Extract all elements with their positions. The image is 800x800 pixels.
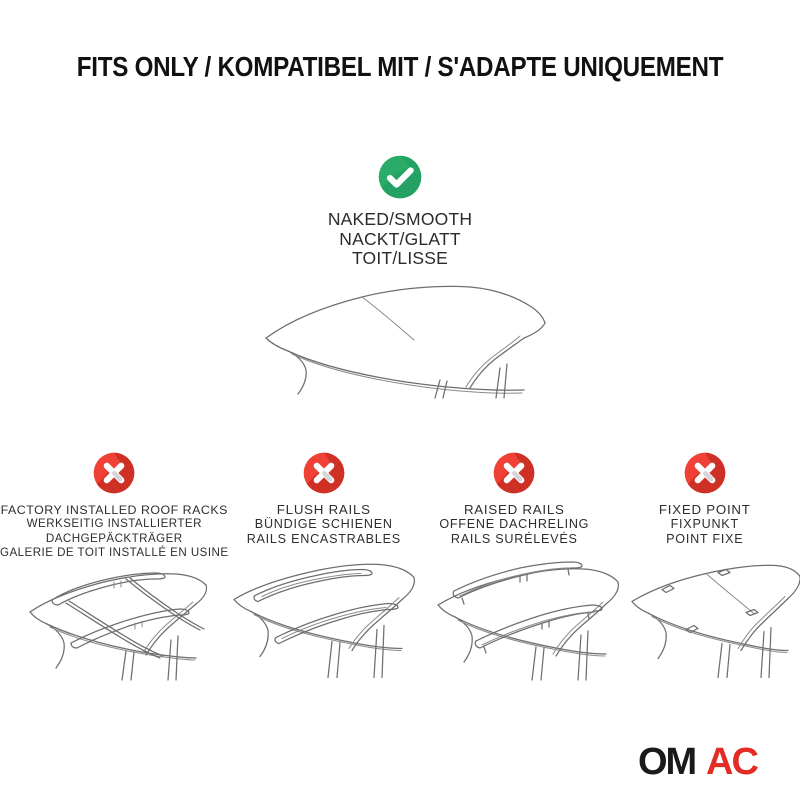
- car-roof-naked-smooth-illustration: [258, 278, 548, 398]
- rejected-label-de-line1: FIXPUNKT: [610, 517, 800, 531]
- rejected-roof-types: FACTORY INSTALLED ROOF RACKS WERKSEITIG …: [0, 452, 800, 561]
- rejected-label-en: RAISED RAILS: [419, 503, 609, 517]
- logo-text-red: AC: [706, 741, 758, 783]
- rejected-label-fr: RAILS SURÉLEVÉS: [419, 532, 609, 546]
- cross-circle-icon: [93, 452, 135, 494]
- cross-circle-icon: [493, 452, 535, 494]
- rejected-label-fr: RAILS ENCASTRABLES: [229, 532, 419, 546]
- logo-text-dark: OM: [638, 741, 696, 783]
- approved-roof-type: NAKED/SMOOTH NACKT/GLATT TOIT/LISSE: [0, 155, 800, 269]
- rejected-item-raised-rails: RAISED RAILS OFFENE DACHRELING RAILS SUR…: [419, 452, 609, 546]
- approved-label-de: NACKT/GLATT: [0, 230, 800, 250]
- car-roof-fixed-point-illustration: [622, 555, 800, 680]
- rejected-label-de-line1: BÜNDIGE SCHIENEN: [229, 517, 419, 531]
- check-circle-icon: [378, 155, 422, 199]
- rejected-labels: FLUSH RAILS BÜNDIGE SCHIENEN RAILS ENCAS…: [229, 503, 419, 546]
- omac-logo: OM AC: [638, 742, 778, 782]
- rejected-labels: RAISED RAILS OFFENE DACHRELING RAILS SUR…: [419, 503, 609, 546]
- rejected-label-de-line1: WERKSEITIG INSTALLIERTER: [0, 517, 229, 531]
- approved-label-en: NAKED/SMOOTH: [0, 210, 800, 230]
- approved-labels: NAKED/SMOOTH NACKT/GLATT TOIT/LISSE: [0, 210, 800, 269]
- car-roof-flush-rails-illustration: [222, 555, 427, 680]
- rejected-labels: FIXED POINT FIXPUNKT POINT FIXE: [610, 503, 800, 546]
- rejected-labels: FACTORY INSTALLED ROOF RACKS WERKSEITIG …: [0, 503, 229, 561]
- rejected-label-de-line2: DACHGEPÄCKTRÄGER: [0, 532, 229, 546]
- rejected-label-en: FLUSH RAILS: [229, 503, 419, 517]
- page-title: FITS ONLY / KOMPATIBEL MIT / S'ADAPTE UN…: [48, 51, 752, 83]
- rejected-item-factory-installed-roof-racks: FACTORY INSTALLED ROOF RACKS WERKSEITIG …: [0, 452, 229, 561]
- cross-circle-icon: [303, 452, 345, 494]
- rejected-item-flush-rails: FLUSH RAILS BÜNDIGE SCHIENEN RAILS ENCAS…: [229, 452, 419, 546]
- rejected-label-en: FIXED POINT: [610, 503, 800, 517]
- approved-label-fr: TOIT/LISSE: [0, 249, 800, 269]
- rejected-label-en: FACTORY INSTALLED ROOF RACKS: [0, 503, 229, 517]
- rejected-label-fr: POINT FIXE: [610, 532, 800, 546]
- car-roof-raised-rails-illustration: [424, 555, 629, 680]
- rejected-item-fixed-point: FIXED POINT FIXPUNKT POINT FIXE: [610, 452, 800, 546]
- cross-circle-icon: [684, 452, 726, 494]
- rejected-label-de-line1: OFFENE DACHRELING: [419, 517, 609, 531]
- car-roof-factory-rack-illustration: [8, 555, 218, 680]
